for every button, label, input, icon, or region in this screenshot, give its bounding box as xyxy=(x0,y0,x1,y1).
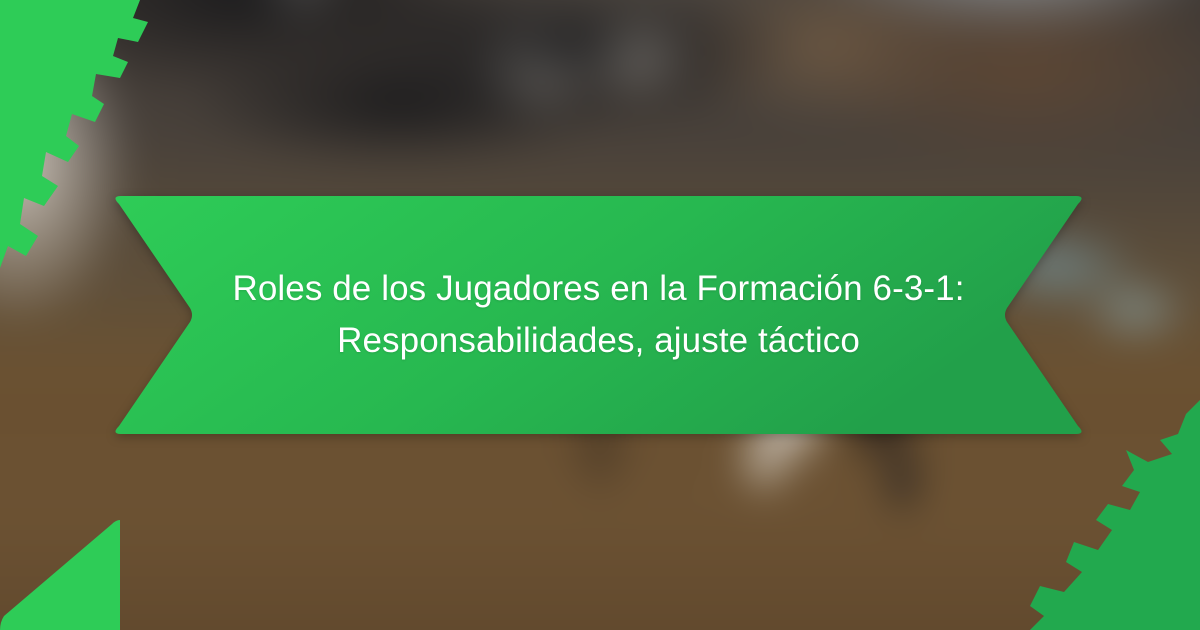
ribbon-title-line-1: Roles de los Jugadores en la Formación 6… xyxy=(232,263,964,316)
title-ribbon: Roles de los Jugadores en la Formación 6… xyxy=(107,196,1090,434)
share-card: Roles de los Jugadores en la Formación 6… xyxy=(0,0,1200,630)
ribbon-title-line-2: Responsabilidades, ajuste táctico xyxy=(337,315,860,368)
ribbon-title-text: Roles de los Jugadores en la Formación 6… xyxy=(107,196,1090,434)
